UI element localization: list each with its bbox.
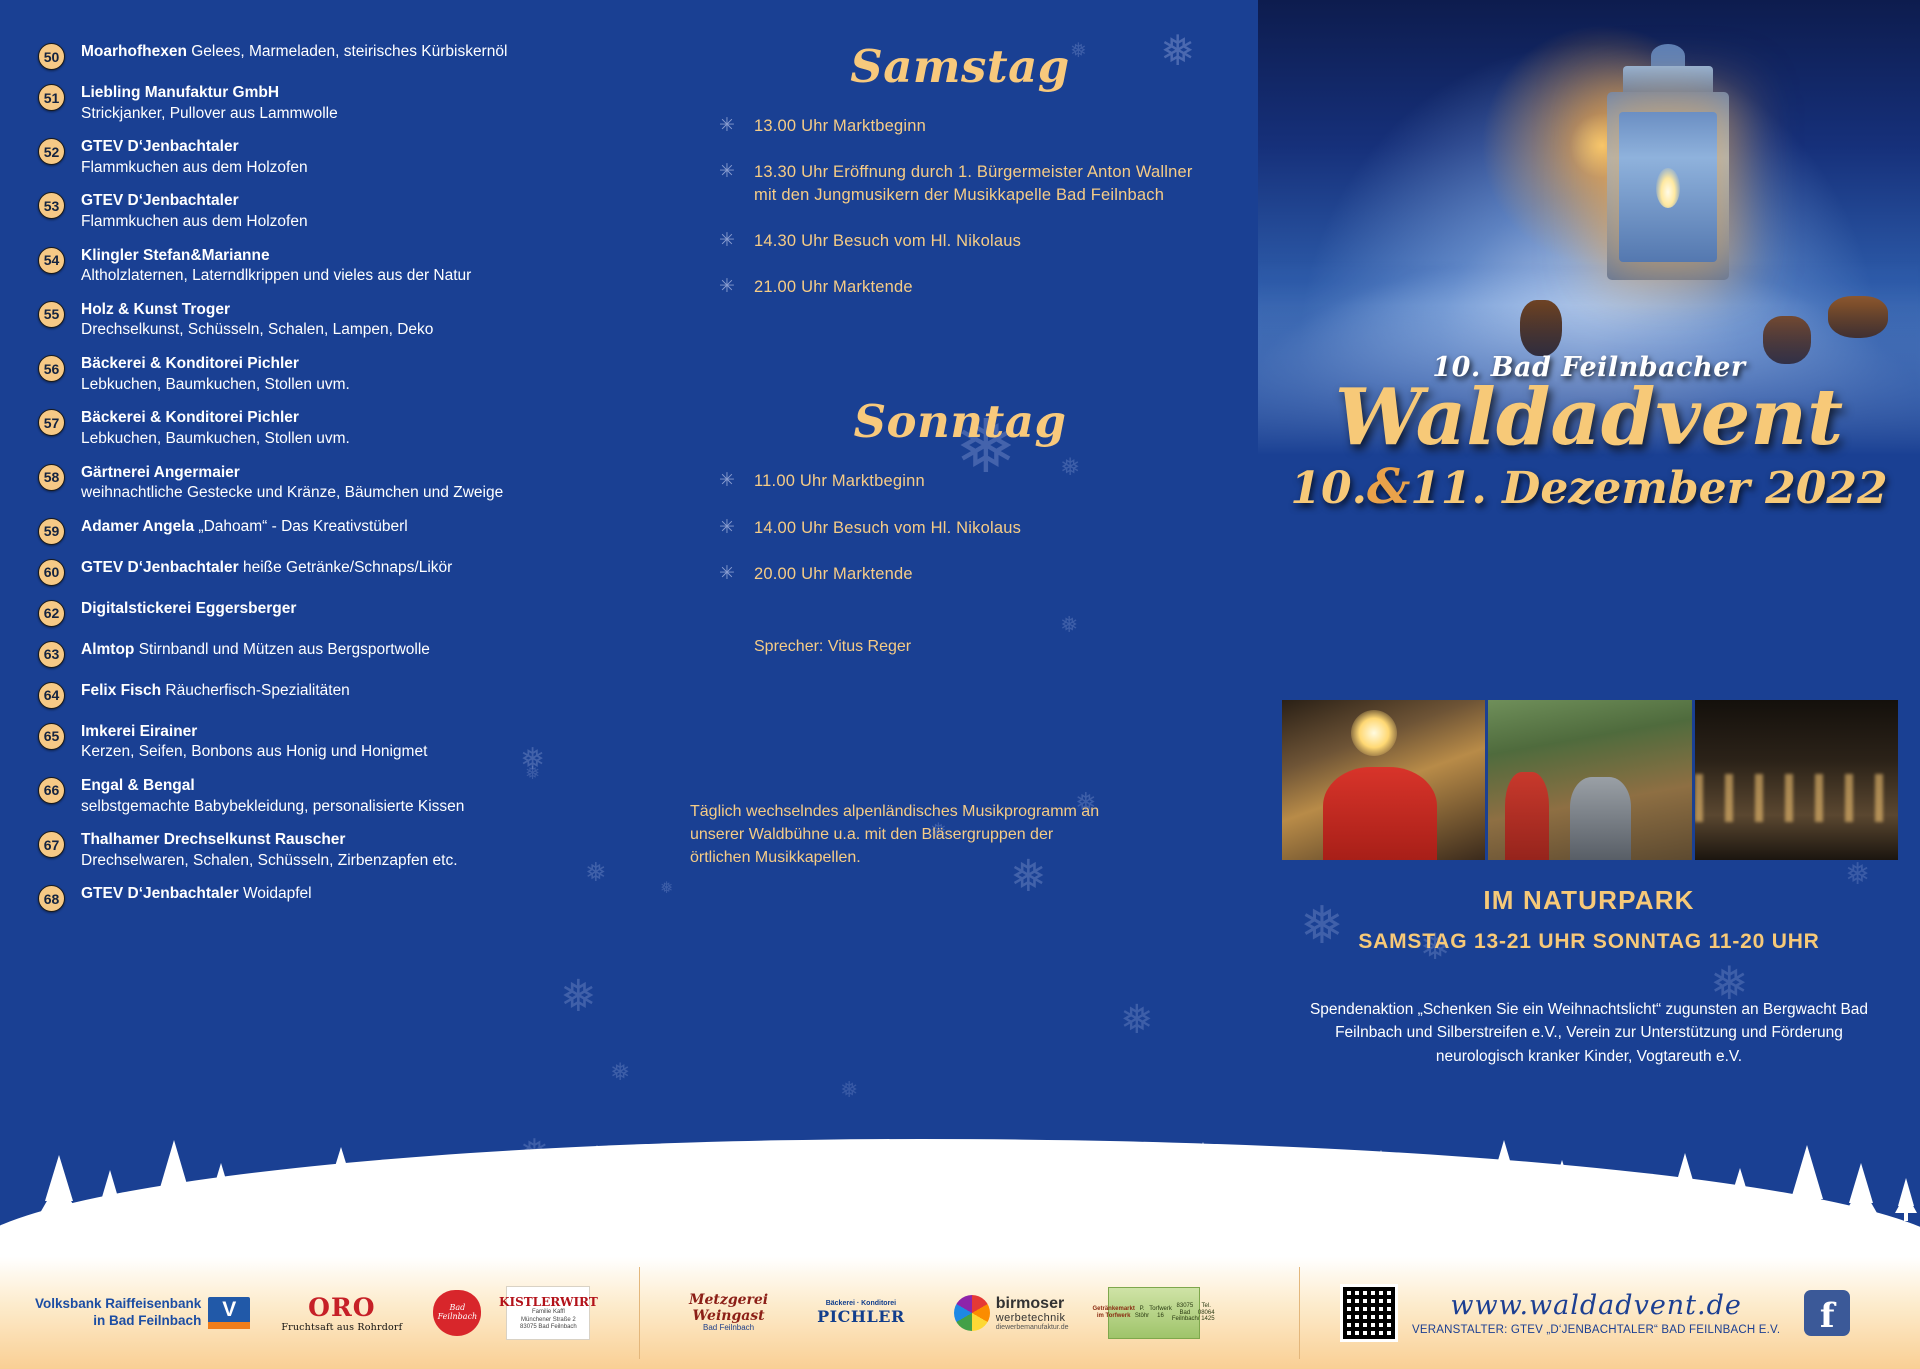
apple-line2: Feilnbach — [438, 1313, 478, 1322]
vendor-name: Gärtnerei Angermaier — [81, 464, 240, 481]
tree-icon — [320, 1147, 362, 1221]
snowflake-bullet-icon: ✳ — [712, 516, 742, 538]
facebook-icon[interactable] — [1804, 1290, 1850, 1336]
logo-birmoser[interactable]: birmoser werbetechnik diewerbemanufaktur… — [954, 1295, 1069, 1331]
snowflake-bullet-icon: ✳ — [712, 229, 742, 251]
snowflake-icon: ❅ — [560, 975, 597, 1019]
vendor-description: Drechselkunst, Schüsseln, Schalen, Lampe… — [81, 320, 433, 341]
tree-icon — [640, 1163, 672, 1221]
speaker-line: Sprecher: Vitus Reger — [690, 638, 1230, 656]
vendor-text: Gärtnerei Angermaierweihnachtliche Geste… — [81, 463, 503, 504]
vendor-text: GTEV D‘Jenbachtaler Woidapfel — [81, 884, 312, 905]
vendor-text: Imkerei EirainerKerzen, Seifen, Bonbons … — [81, 722, 427, 763]
kistlerwirt-sub3: 83075 Bad Feilnbach — [520, 1324, 577, 1331]
snowflake-bullet-icon: ✳ — [712, 562, 742, 584]
vendor-number-badge: 63 — [38, 641, 65, 668]
vendor-row: 66Engal & Bengalselbstgemachte Babybekle… — [38, 776, 638, 817]
vendor-text: Bäckerei & Konditorei PichlerLebkuchen, … — [81, 408, 350, 449]
pinecone-decor — [1520, 300, 1562, 356]
vendor-name: Holz & Kunst Troger — [81, 301, 230, 318]
kistlerwirt-name: KISTLERWIRT — [499, 1295, 598, 1309]
program-entry-line: mit den Jungmusikern der Musikkapelle Ba… — [754, 184, 1193, 207]
date-part-2: 11. Dezember 2022 — [1410, 463, 1887, 514]
vendor-name: Imkerei Eirainer — [81, 723, 197, 740]
sunday-block: Sonntag ✳11.00 Uhr Marktbeginn✳14.00 Uhr… — [690, 395, 1230, 585]
tree-icon — [1005, 1176, 1029, 1222]
pinecone-decor — [1828, 296, 1888, 338]
vendor-number-badge: 68 — [38, 885, 65, 912]
vendor-text: GTEV D‘Jenbachtaler heiße Getränke/Schna… — [81, 558, 452, 579]
program-entry-line: 14.00 Uhr Besuch vom Hl. Nikolaus — [754, 517, 1021, 540]
program-entry: ✳20.00 Uhr Marktende — [690, 563, 1230, 586]
right-panel: 10. Bad Feilnbacher Waldadvent 10.&11. D… — [1258, 0, 1920, 1369]
snowflake-icon: ❅ — [840, 1080, 858, 1102]
naturpark-heading: IM NATURPARK — [1258, 885, 1920, 916]
vendor-text: Klingler Stefan&MarianneAltholzlaternen,… — [81, 246, 471, 287]
snowflake-icon: ❅ — [660, 880, 673, 896]
vendor-number-badge: 56 — [38, 355, 65, 382]
tree-icon — [528, 1170, 556, 1221]
snowflake-icon: ❅ — [520, 1135, 549, 1169]
vendor-text: GTEV D‘JenbachtalerFlammkuchen aus dem H… — [81, 191, 308, 232]
metzgerei-line3: Bad Feilnbach — [689, 1324, 768, 1333]
logo-volksbank[interactable]: Volksbank Raiffeisenbank in Bad Feilnbac… — [35, 1296, 250, 1330]
website-url[interactable]: www.waldadvent.de — [1412, 1290, 1780, 1321]
vendor-number-badge: 60 — [38, 559, 65, 586]
getraenke-line1: Getränkemarkt im Torfwerk — [1092, 1306, 1134, 1320]
music-program-note: Täglich wechselndes alpenländisches Musi… — [690, 800, 1110, 870]
program-entry: ✳21.00 Uhr Marktende — [690, 276, 1230, 299]
photo-night-market — [1695, 700, 1898, 860]
vendor-row: 58Gärtnerei Angermaierweihnachtliche Ges… — [38, 463, 638, 504]
vendor-number-badge: 55 — [38, 301, 65, 328]
vendor-description: Lebkuchen, Baumkuchen, Stollen uvm. — [81, 429, 350, 450]
vendor-text: Felix Fisch Räucherfisch-Spezialitäten — [81, 681, 350, 702]
vendor-description: heiße Getränke/Schnaps/Likör — [239, 559, 453, 576]
snowflake-icon: ❅ — [610, 1060, 630, 1084]
vendor-description: Kerzen, Seifen, Bonbons aus Honig und Ho… — [81, 742, 427, 763]
snowflake-bullet-icon: ✳ — [712, 275, 742, 297]
vendor-row: 53GTEV D‘JenbachtalerFlammkuchen aus dem… — [38, 191, 638, 232]
vendor-row: 51Liebling Manufaktur GmbHStrickjanker, … — [38, 83, 638, 124]
saturday-title: Samstag — [690, 40, 1230, 93]
vendor-row: 64Felix Fisch Räucherfisch-Spezialitäten — [38, 681, 638, 709]
qr-code-icon[interactable] — [1340, 1284, 1398, 1342]
vendor-number-badge: 62 — [38, 600, 65, 627]
footer-section-right: www.waldadvent.de VERANSTALTER: GTEV „D‘… — [1300, 1257, 1920, 1369]
vendor-text: Liebling Manufaktur GmbHStrickjanker, Pu… — [81, 83, 338, 124]
vendor-name: GTEV D‘Jenbachtaler — [81, 559, 239, 576]
title-block: 10. Bad Feilnbacher Waldadvent 10.&11. D… — [1258, 352, 1920, 515]
vendor-description: Lebkuchen, Baumkuchen, Stollen uvm. — [81, 375, 350, 396]
tree-icon — [880, 1140, 928, 1221]
vendor-name: Almtop — [81, 641, 134, 658]
volksbank-mark-icon — [208, 1297, 250, 1329]
tree-icon — [820, 1168, 850, 1221]
tree-icon — [262, 1176, 286, 1222]
vendor-name: Bäckerei & Konditorei Pichler — [81, 409, 299, 426]
vendor-number-badge: 59 — [38, 518, 65, 545]
vendor-text: Holz & Kunst TrogerDrechselkunst, Schüss… — [81, 300, 433, 341]
vendor-name: Thalhamer Drechselkunst Rauscher — [81, 831, 345, 848]
program-entry: ✳14.00 Uhr Besuch vom Hl. Nikolaus — [690, 517, 1230, 540]
vendor-name: Klingler Stefan&Marianne — [81, 247, 270, 264]
vendor-number-badge: 53 — [38, 192, 65, 219]
photo-market-stall — [1488, 700, 1691, 860]
program-entry-line: 14.30 Uhr Besuch vom Hl. Nikolaus — [754, 230, 1021, 253]
vendor-row: 56Bäckerei & Konditorei PichlerLebkuchen… — [38, 354, 638, 395]
tree-icon — [205, 1163, 237, 1221]
tree-icon — [760, 1150, 802, 1222]
photo-nikolaus — [1282, 700, 1485, 860]
vendor-text: GTEV D‘JenbachtalerFlammkuchen aus dem H… — [81, 137, 308, 178]
vendor-name: Felix Fisch — [81, 682, 161, 699]
volksbank-line2: in Bad Feilnbach — [35, 1313, 201, 1330]
getraenke-line5: Tel. 08064 / 1425 — [1198, 1303, 1215, 1324]
footer-section-left: Volksbank Raiffeisenbank in Bad Feilnbac… — [0, 1257, 640, 1369]
vendor-row: 50Moarhofhexen Gelees, Marmeladen, steir… — [38, 42, 638, 70]
snowflake-bullet-icon: ✳ — [712, 469, 742, 491]
vendor-row: 60GTEV D‘Jenbachtaler heiße Getränke/Sch… — [38, 558, 638, 586]
vendor-row: 54Klingler Stefan&MarianneAltholzlaterne… — [38, 246, 638, 287]
logo-bad-feilnbach-apple[interactable]: Bad Feilnbach — [433, 1290, 481, 1336]
getraenke-line3: Torfwerk 16 — [1149, 1306, 1172, 1320]
vendor-name: Engal & Bengal — [81, 777, 195, 794]
tree-icon — [40, 1155, 78, 1221]
donation-note: Spendenaktion „Schenken Sie ein Weihnach… — [1258, 998, 1920, 1068]
vendor-row: 67Thalhamer Drechselkunst RauscherDrechs… — [38, 830, 638, 871]
vendor-row: 68GTEV D‘Jenbachtaler Woidapfel — [38, 884, 638, 912]
tree-icon — [430, 1181, 450, 1221]
saturday-block: Samstag ✳13.00 Uhr Marktbeginn✳13.30 Uhr… — [690, 40, 1230, 299]
logo-kistlerwirt[interactable]: KISTLERWIRT Familie Kaffl Münchener Stra… — [506, 1286, 590, 1340]
vendor-text: Engal & Bengalselbstgemachte Babybekleid… — [81, 776, 464, 817]
page-title: Waldadvent — [1258, 379, 1920, 457]
organizer-line: VERANSTALTER: GTEV „D‘JENBACHTALER“ BAD … — [1412, 1324, 1780, 1336]
vendor-name: Moarhofhexen — [81, 43, 187, 60]
vendor-name: Liebling Manufaktur GmbH — [81, 84, 279, 101]
tree-icon — [945, 1160, 979, 1221]
vendor-row: 55Holz & Kunst TrogerDrechselkunst, Schü… — [38, 300, 638, 341]
vendor-number-badge: 50 — [38, 43, 65, 70]
vendor-list: 50Moarhofhexen Gelees, Marmeladen, steir… — [38, 42, 638, 925]
footer-section-middle: Metzgerei Weingast Bad Feilnbach Bäckere… — [640, 1257, 1300, 1369]
metzgerei-line1: Metzgerei — [689, 1293, 768, 1308]
tree-icon — [96, 1170, 124, 1221]
vendor-number-badge: 54 — [38, 247, 65, 274]
logo-getraenkemarkt[interactable]: Getränkemarkt im Torfwerk P. Stöhr Torfw… — [1108, 1287, 1200, 1339]
program-entry-text: 14.00 Uhr Besuch vom Hl. Nikolaus — [754, 517, 1021, 540]
snowflake-bullet-icon: ✳ — [712, 160, 742, 182]
event-date: 10.&11. Dezember 2022 — [1258, 459, 1920, 515]
program-entry-line: 11.00 Uhr Marktbeginn — [754, 470, 925, 493]
program-entry: ✳13.30 Uhr Eröffnung durch 1. Bürgermeis… — [690, 161, 1230, 207]
vendor-description: weihnachtliche Gestecke und Kränze, Bäum… — [81, 483, 503, 504]
vendor-text: Bäckerei & Konditorei PichlerLebkuchen, … — [81, 354, 350, 395]
metzgerei-line2: Weingast — [689, 1309, 768, 1324]
apple-icon: Bad Feilnbach — [433, 1290, 481, 1336]
program-entry: ✳11.00 Uhr Marktbeginn — [690, 470, 1230, 493]
saturday-entries: ✳13.00 Uhr Marktbeginn✳13.30 Uhr Eröffnu… — [690, 115, 1230, 299]
vendor-text: Almtop Stirnbandl und Mützen aus Bergspo… — [81, 640, 430, 661]
kistlerwirt-sub2: Münchener Straße 2 — [521, 1317, 576, 1324]
lantern-icon — [1593, 40, 1743, 340]
getraenke-line2: P. Stöhr — [1135, 1306, 1149, 1320]
vendor-number-badge: 58 — [38, 464, 65, 491]
volksbank-line1: Volksbank Raiffeisenbank — [35, 1296, 201, 1313]
vendor-description: „Dahoam“ - Das Kreativstüberl — [194, 518, 408, 535]
tree-icon — [372, 1165, 404, 1221]
vendor-text: Digitalstickerei Eggersberger — [81, 599, 296, 620]
vendor-name: GTEV D‘Jenbachtaler — [81, 192, 239, 209]
photo-strip — [1282, 700, 1898, 860]
vendor-row: 63Almtop Stirnbandl und Mützen aus Bergs… — [38, 640, 638, 668]
program-entry-text: 11.00 Uhr Marktbeginn — [754, 470, 925, 493]
program-entry-text: 21.00 Uhr Marktende — [754, 276, 913, 299]
vendor-number-badge: 52 — [38, 138, 65, 165]
program-entry-text: 14.30 Uhr Besuch vom Hl. Nikolaus — [754, 230, 1021, 253]
vendor-row: 65Imkerei EirainerKerzen, Seifen, Bonbon… — [38, 722, 638, 763]
vendor-description: Flammkuchen aus dem Holzofen — [81, 212, 308, 233]
program-entry-line: 13.00 Uhr Marktbeginn — [754, 115, 926, 138]
vendor-row: 59Adamer Angela „Dahoam“ - Das Kreativst… — [38, 517, 638, 545]
getraenke-line4: 83075 Bad Feilnbach — [1172, 1303, 1198, 1324]
oro-name: ORO — [281, 1293, 402, 1322]
vendor-description: Gelees, Marmeladen, steirisches Kürbiske… — [187, 43, 507, 60]
color-wheel-icon — [954, 1295, 990, 1331]
program-entry-text: 20.00 Uhr Marktende — [754, 563, 913, 586]
poster-canvas: ❅ ❅ ❅ ❅ ❅ ❅ ❅ ❅ ❅ ❅ ❅ ❅ ❅ ❅ ❅ ❅ ❅ ❅ ❅ ❅ … — [0, 0, 1920, 1369]
vendor-description: Woidapfel — [239, 885, 312, 902]
vendor-description: Strickjanker, Pullover aus Lammwolle — [81, 104, 338, 125]
program-entry-text: 13.00 Uhr Marktbeginn — [754, 115, 926, 138]
vendor-number-badge: 51 — [38, 84, 65, 111]
sunday-title: Sonntag — [690, 395, 1230, 448]
vendor-name: Bäckerei & Konditorei Pichler — [81, 355, 299, 372]
program-entry-line: 21.00 Uhr Marktende — [754, 276, 913, 299]
vendor-number-badge: 66 — [38, 777, 65, 804]
vendor-text: Adamer Angela „Dahoam“ - Das Kreativstüb… — [81, 517, 408, 538]
program-entry-line: 13.30 Uhr Eröffnung durch 1. Bürgermeist… — [754, 161, 1193, 184]
snowflake-icon: ❅ — [1120, 1000, 1154, 1040]
kistlerwirt-sub1: Familie Kaffl — [532, 1309, 565, 1316]
vendor-description: Flammkuchen aus dem Holzofen — [81, 158, 308, 179]
tree-icon — [1060, 1153, 1100, 1221]
vendor-row: 57Bäckerei & Konditorei PichlerLebkuchen… — [38, 408, 638, 449]
oro-sub: Fruchtsaft aus Rohrdorf — [281, 1322, 402, 1333]
program-entry: ✳14.30 Uhr Besuch vom Hl. Nikolaus — [690, 230, 1230, 253]
birmoser-line2: werbetechnik — [996, 1312, 1069, 1324]
tree-icon — [1120, 1168, 1150, 1221]
vendor-number-badge: 57 — [38, 409, 65, 436]
program-entry-text: 13.30 Uhr Eröffnung durch 1. Bürgermeist… — [754, 161, 1193, 207]
tree-icon — [575, 1145, 619, 1221]
birmoser-line1: birmoser — [996, 1296, 1069, 1312]
opening-hours: SAMSTAG 13-21 UHR SONNTAG 11-20 UHR — [1258, 930, 1920, 954]
vendor-number-badge: 64 — [38, 682, 65, 709]
logo-pichler[interactable]: Bäckerei · Konditorei PICHLER — [817, 1300, 905, 1326]
snowflake-bullet-icon: ✳ — [712, 114, 742, 136]
sunday-entries: ✳11.00 Uhr Marktbeginn✳14.00 Uhr Besuch … — [690, 470, 1230, 585]
vendor-description: selbstgemachte Babybekleidung, personali… — [81, 797, 464, 818]
pichler-line1: Bäckerei · Konditorei — [817, 1300, 905, 1307]
ampersand: & — [1367, 459, 1410, 515]
tree-icon — [700, 1176, 724, 1222]
program-entry: ✳13.00 Uhr Marktbeginn — [690, 115, 1230, 138]
birmoser-line3: diewerbemanufaktur.de — [996, 1324, 1069, 1331]
vendor-row: 62Digitalstickerei Eggersberger — [38, 599, 638, 627]
program-schedule: Samstag ✳13.00 Uhr Marktbeginn✳13.30 Uhr… — [690, 40, 1230, 656]
vendor-text: Moarhofhexen Gelees, Marmeladen, steiris… — [81, 42, 507, 63]
footer-sponsor-bar: Volksbank Raiffeisenbank in Bad Feilnbac… — [0, 1257, 1920, 1369]
vendor-number-badge: 65 — [38, 723, 65, 750]
pichler-line2: PICHLER — [817, 1307, 905, 1326]
vendor-name: GTEV D‘Jenbachtaler — [81, 885, 239, 902]
vendor-description: Drechselwaren, Schalen, Schüsseln, Zirbe… — [81, 851, 458, 872]
vendor-name: GTEV D‘Jenbachtaler — [81, 138, 239, 155]
vendor-description: Altholzlaternen, Laterndlkrippen und vie… — [81, 266, 471, 287]
logo-metzgerei-weingast[interactable]: Metzgerei Weingast Bad Feilnbach — [689, 1293, 768, 1333]
program-entry-line: 20.00 Uhr Marktende — [754, 563, 913, 586]
vendor-row: 52GTEV D‘JenbachtalerFlammkuchen aus dem… — [38, 137, 638, 178]
logo-oro[interactable]: ORO Fruchtsaft aus Rohrdorf — [281, 1293, 402, 1333]
tree-icon — [470, 1158, 506, 1221]
vendor-description: Räucherfisch-Spezialitäten — [161, 682, 350, 699]
vendor-name: Digitalstickerei Eggersberger — [81, 600, 296, 617]
vendor-description: Stirnbandl und Mützen aus Bergsportwolle — [134, 641, 430, 658]
vendor-number-badge: 67 — [38, 831, 65, 858]
vendor-text: Thalhamer Drechselkunst RauscherDrechsel… — [81, 830, 458, 871]
tree-icon — [1180, 1142, 1226, 1221]
date-part-1: 10. — [1290, 463, 1367, 514]
right-info-text: IM NATURPARK SAMSTAG 13-21 UHR SONNTAG 1… — [1258, 885, 1920, 1068]
tree-icon — [150, 1140, 198, 1221]
vendor-name: Adamer Angela — [81, 518, 194, 535]
